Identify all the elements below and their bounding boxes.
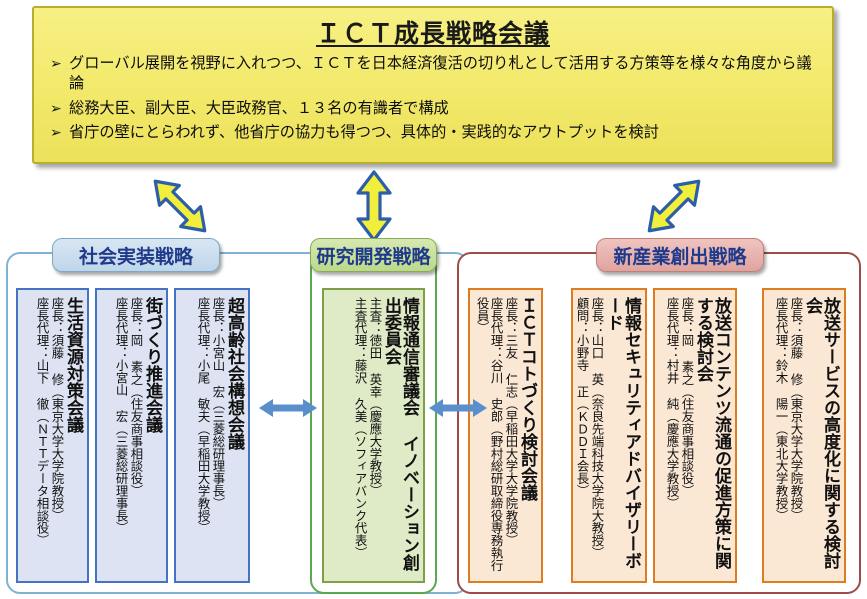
council-card-machizukuri[interactable]: 街づくり推進会議 座長：岡 素之（住友商事相談役） 座長代理：小宮山 宏（三菱総… <box>95 288 168 583</box>
council-title: ＩＣＴコトづくり検討会議 <box>518 297 536 574</box>
header-bullet-item: ➢ グローバル展開を視野に入れつつ、ＩＣＴを日本経済復活の切り札として活用する方… <box>50 54 818 94</box>
group-label-social-implementation[interactable]: 社会実装戦略 <box>52 238 220 272</box>
diagram-canvas: ＩＣＴ成長戦略会議 ➢ グローバル展開を視野に入れつつ、ＩＣＴを日本経済復活の切… <box>0 0 867 599</box>
council-chair: 座長：須藤 修（東京大学大学院教授） <box>788 297 802 574</box>
council-title: 放送サービスの高度化に関する検討会 <box>803 297 839 574</box>
link-arrow-green-to-red <box>427 396 489 420</box>
council-card-ict-kotozukuri[interactable]: ＩＣＴコトづくり検討会議 座長：三友 仁志（早稲田大学大学院教授） 座長代理：谷… <box>468 288 543 583</box>
council-vice-chair: 座長代理：村井 純（慶應大学教授） <box>664 297 678 574</box>
council-title: 情報通信審議会 イノベーション創出委員会 <box>382 297 418 574</box>
council-chair: 座長：須藤 修（東京大学大学院教授） <box>49 297 63 574</box>
council-vice-chair: 座長代理：山下 徹（ＮＴＴデータ相談役） <box>34 297 48 574</box>
council-title: 放送コンテンツ流通の促進方策に関する検討会 <box>694 297 730 574</box>
council-vice-chair: 座長代理：谷川 史郎（野村総研取締役専務執行役員） <box>474 297 502 574</box>
council-chair: 座長：岡 素之（住友商事相談役） <box>679 297 693 574</box>
council-title: 街づくり推進会議 <box>143 297 161 574</box>
council-card-seikatsu-shigen[interactable]: 生活資源対策会議 座長：須藤 修（東京大学大学院教授） 座長代理：山下 徹（ＮＴ… <box>16 288 89 583</box>
council-chair: 主査：徳田 英幸（慶應大学教授） <box>367 297 381 574</box>
bullet-arrow-icon: ➢ <box>50 99 69 118</box>
header-bullet-text: 省庁の壁にとらわれず、他省庁の協力も得つつ、具体的・実践的なアウトプットを検討 <box>69 123 818 143</box>
council-title: 情報セキュリティアドバイザリーボード <box>604 297 640 574</box>
council-card-broadcast-service-advancement[interactable]: 放送サービスの高度化に関する検討会 座長：須藤 修（東京大学大学院教授） 座長代… <box>762 288 846 583</box>
council-title: 超高齢社会構想会議 <box>225 297 243 574</box>
group-label-text: 新産業創出戦略 <box>613 242 746 269</box>
council-vice-chair: 主査代理：藤沢 久美（ソフィアバンク代表） <box>352 297 366 574</box>
bullet-arrow-icon: ➢ <box>50 123 69 142</box>
council-card-broadcast-content-distribution[interactable]: 放送コンテンツ流通の促進方策に関する検討会 座長：岡 素之（住友商事相談役） 座… <box>653 288 737 583</box>
council-chair: 座長：岡 素之（住友商事相談役） <box>128 297 142 574</box>
group-label-rnd-strategy[interactable]: 研究開発戦略 <box>310 238 437 272</box>
council-advisor: 顧問：小野寺 正（ＫＤＤＩ会長） <box>574 297 588 574</box>
link-arrow-blue-to-green <box>257 396 319 420</box>
council-vice-chair: 座長代理：鈴木 陽一（東北大学教授） <box>773 297 787 574</box>
council-chair: 座長：三友 仁志（早稲田大学大学院教授） <box>503 297 517 574</box>
council-card-chokoreisha[interactable]: 超高齢社会構想会議 座長：小宮山 宏（三菱総研理事長） 座長代理：小尾 敏夫（早… <box>174 288 250 583</box>
council-chair: 座長：小宮山 宏（三菱総研理事長） <box>210 297 224 574</box>
header-bullet-text: グローバル展開を視野に入れつつ、ＩＣＴを日本経済復活の切り札として活用する方策等… <box>69 54 818 94</box>
header-bullet-item: ➢ 総務大臣、副大臣、大臣政務官、１３名の有識者で構成 <box>50 99 818 119</box>
connector-arrow-social <box>143 169 217 243</box>
ict-growth-strategy-header: ＩＣＴ成長戦略会議 ➢ グローバル展開を視野に入れつつ、ＩＣＴを日本経済復活の切… <box>32 6 834 164</box>
header-bullet-item: ➢ 省庁の壁にとらわれず、他省庁の協力も得つつ、具体的・実践的なアウトプットを検… <box>50 123 818 143</box>
group-label-text: 研究開発戦略 <box>316 242 430 269</box>
council-card-security-advisory-board[interactable]: 情報セキュリティアドバイザリーボード 座長：山口 英（奈良先端科技大学院大教授）… <box>571 288 647 583</box>
council-vice-chair: 座長代理：小尾 敏夫（早稲田大学教授） <box>195 297 209 574</box>
connector-arrow-rnd <box>352 170 396 242</box>
page-title: ＩＣＴ成長戦略会議 <box>34 14 832 50</box>
group-label-text: 社会実装戦略 <box>79 242 193 269</box>
council-vice-chair: 座長代理：小宮山 宏（三菱総研理事長） <box>113 297 127 574</box>
council-title: 生活資源対策会議 <box>64 297 82 574</box>
group-label-new-industry[interactable]: 新産業創出戦略 <box>596 238 764 272</box>
header-bullet-list: ➢ グローバル展開を視野に入れつつ、ＩＣＴを日本経済復活の切り札として活用する方… <box>34 54 832 143</box>
bullet-arrow-icon: ➢ <box>50 54 69 73</box>
council-card-innovation-committee[interactable]: 情報通信審議会 イノベーション創出委員会 主査：徳田 英幸（慶應大学教授） 主査… <box>322 288 425 583</box>
council-chair: 座長：山口 英（奈良先端科技大学院大教授） <box>589 297 603 574</box>
header-bullet-text: 総務大臣、副大臣、大臣政務官、１３名の有識者で構成 <box>69 99 818 119</box>
connector-arrow-new-industry <box>637 169 711 243</box>
